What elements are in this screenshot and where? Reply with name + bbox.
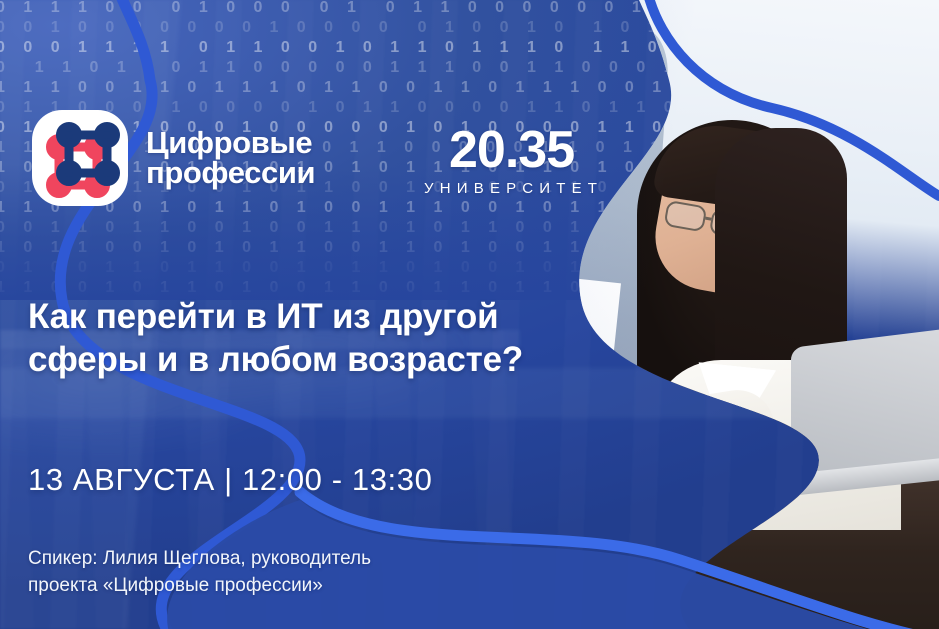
speaker-line2: проекта «Цифровые профессии» — [28, 573, 548, 600]
headline-line2: сферы и в любом возрасте? — [28, 338, 588, 381]
speaker-info: Спикер: Лилия Щеглова, руководитель прое… — [28, 546, 548, 600]
headline-line1: Как перейти в ИТ из другой — [28, 295, 588, 338]
university-2035-logo: 20.35 УНИВЕРСИТЕТ — [420, 124, 603, 197]
brand-lockup: Цифровые профессии — [32, 110, 315, 206]
brand-name-line1: Цифровые — [146, 128, 315, 158]
event-datetime: 13 АВГУСТА | 12:00 - 13:30 — [28, 462, 432, 498]
event-promo-poster: 0 1 1 1 0 0 0 1 0 0 0 0 1 0 1 1 0 0 0 0 … — [0, 0, 939, 629]
page-title: Как перейти в ИТ из другой сферы и в люб… — [28, 295, 588, 382]
brand-name-line2: профессии — [146, 158, 315, 188]
university-subtitle: УНИВЕРСИТЕТ — [424, 180, 603, 197]
network-nodes-icon — [32, 110, 128, 206]
logo-tile — [32, 110, 128, 206]
university-number: 20.35 — [420, 124, 603, 176]
speaker-line1: Спикер: Лилия Щеглова, руководитель — [28, 546, 548, 573]
brand-name: Цифровые профессии — [146, 128, 315, 188]
